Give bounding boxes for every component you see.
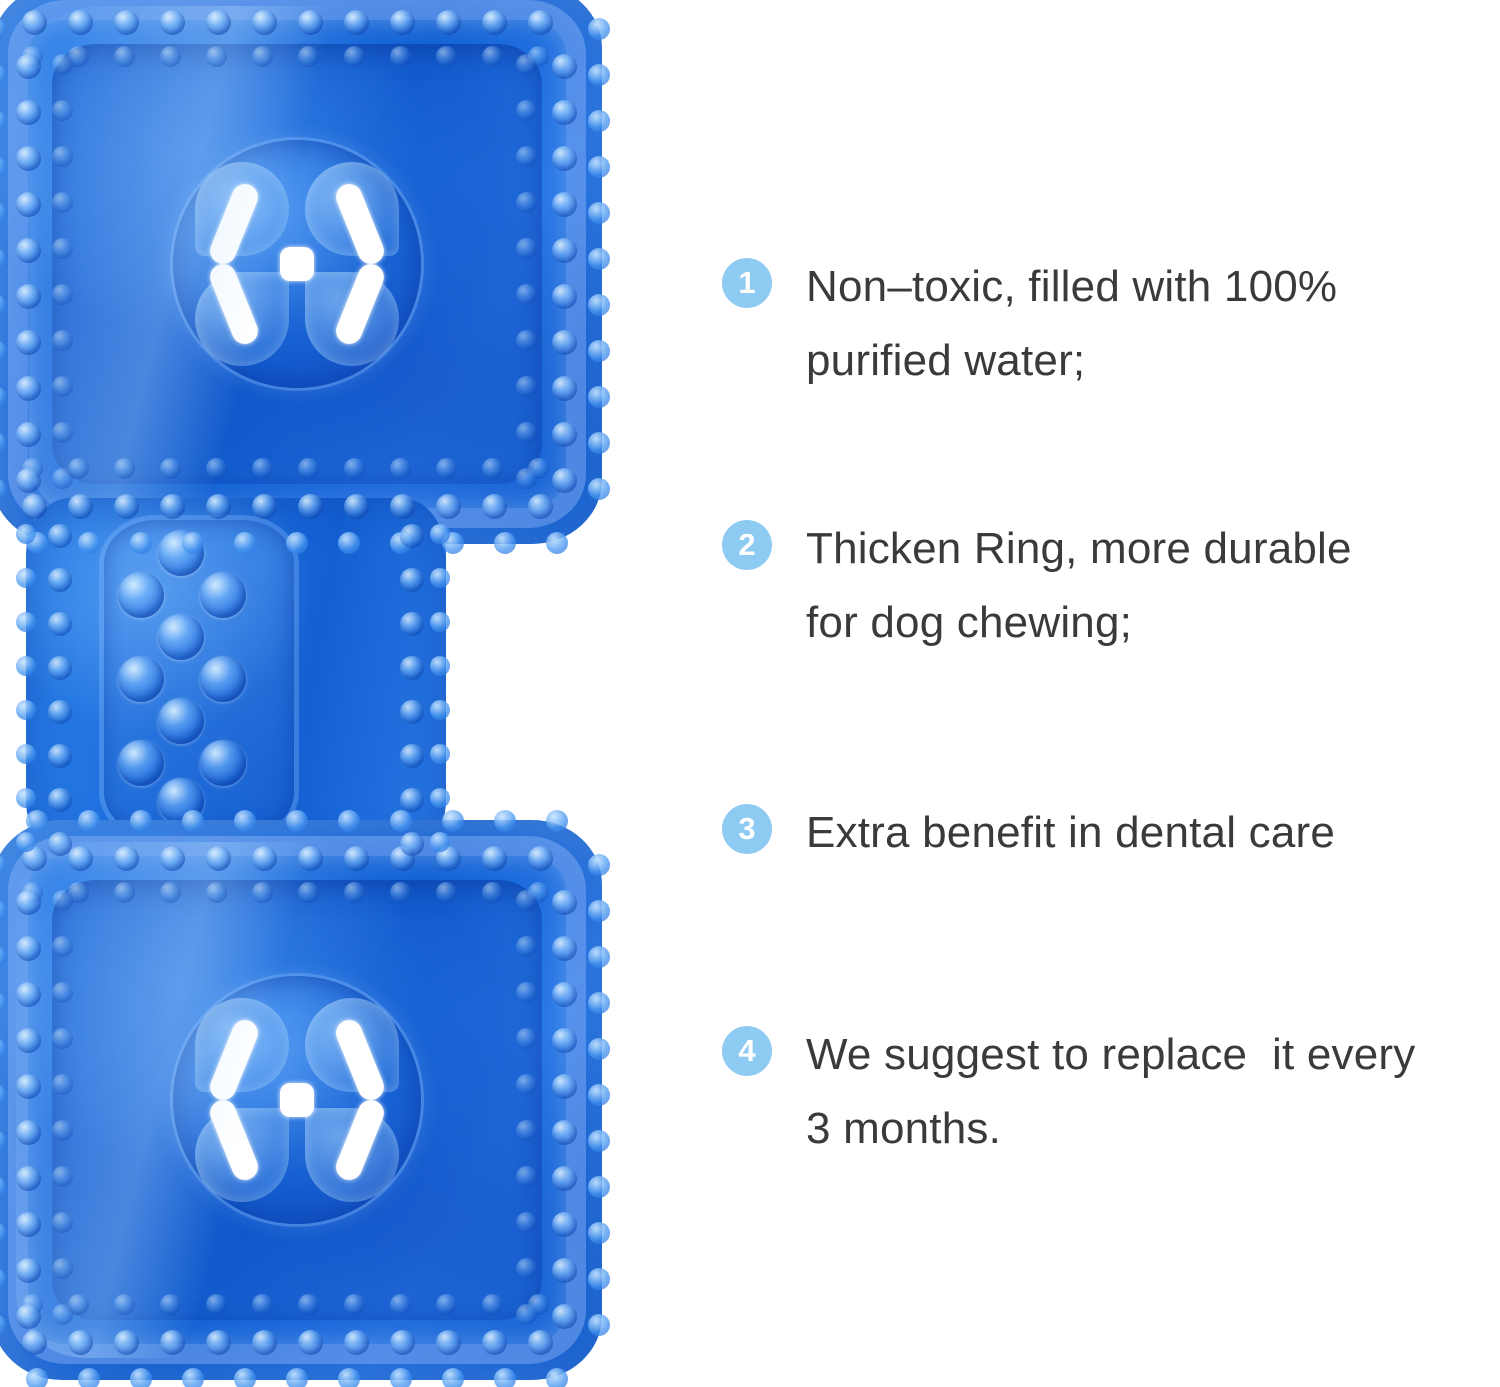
- feature-text-1: Non–toxic, filled with 100% purified wat…: [806, 250, 1500, 398]
- x-cutout-center: [280, 247, 314, 281]
- toy-bottom-lobe: [0, 820, 602, 1380]
- x-cutout-blade: [332, 1096, 388, 1184]
- waist-dome-nub: [200, 572, 246, 618]
- feature-item-1: 1 Non–toxic, filled with 100% purified w…: [700, 250, 1500, 398]
- toy-bottom-circular-recess: [173, 976, 421, 1224]
- toy-waist-handle: [26, 498, 446, 858]
- feature-number-badge-3: 3: [722, 804, 772, 854]
- feature-text-4: We suggest to replace it every 3 months.: [806, 1018, 1500, 1166]
- x-cutout-blade: [332, 180, 388, 268]
- waist-dome-nub: [158, 614, 204, 660]
- feature-text-3: Extra benefit in dental care: [806, 796, 1500, 870]
- toy-top-x-cutout: [213, 176, 381, 352]
- toy-top-lobe: [0, 0, 602, 544]
- x-cutout-blade: [332, 260, 388, 348]
- waist-dome-nub: [200, 740, 246, 786]
- waist-dome-nub: [158, 530, 204, 576]
- feature-list: 1 Non–toxic, filled with 100% purified w…: [700, 0, 1500, 1387]
- feature-number-badge-4: 4: [722, 1026, 772, 1076]
- waist-dome-nub: [158, 778, 204, 824]
- toy-bottom-x-cutout: [213, 1012, 381, 1188]
- product-image-pane: [0, 0, 700, 1387]
- x-cutout-center: [280, 1083, 314, 1117]
- toy-top-circular-recess: [173, 140, 421, 388]
- x-cutout-blade: [206, 180, 262, 268]
- x-cutout-blade: [332, 1016, 388, 1104]
- waist-dome-nub: [118, 740, 164, 786]
- feature-item-3: 3 Extra benefit in dental care: [700, 796, 1500, 870]
- feature-number-badge-2: 2: [722, 520, 772, 570]
- feature-item-2: 2 Thicken Ring, more durable for dog che…: [700, 512, 1500, 660]
- infographic-page: 1 Non–toxic, filled with 100% purified w…: [0, 0, 1500, 1387]
- dog-chew-toy-illustration: [0, 0, 670, 1387]
- waist-dome-nub: [118, 656, 164, 702]
- x-cutout-blade: [206, 1096, 262, 1184]
- waist-dome-nub: [118, 572, 164, 618]
- toy-waist-inset-panel: [104, 520, 294, 836]
- x-cutout-blade: [206, 260, 262, 348]
- feature-number-badge-1: 1: [722, 258, 772, 308]
- feature-text-2: Thicken Ring, more durable for dog chewi…: [806, 512, 1500, 660]
- x-cutout-blade: [206, 1016, 262, 1104]
- waist-dome-nub: [200, 656, 246, 702]
- feature-item-4: 4 We suggest to replace it every 3 month…: [700, 1018, 1500, 1166]
- waist-dome-nub: [158, 698, 204, 744]
